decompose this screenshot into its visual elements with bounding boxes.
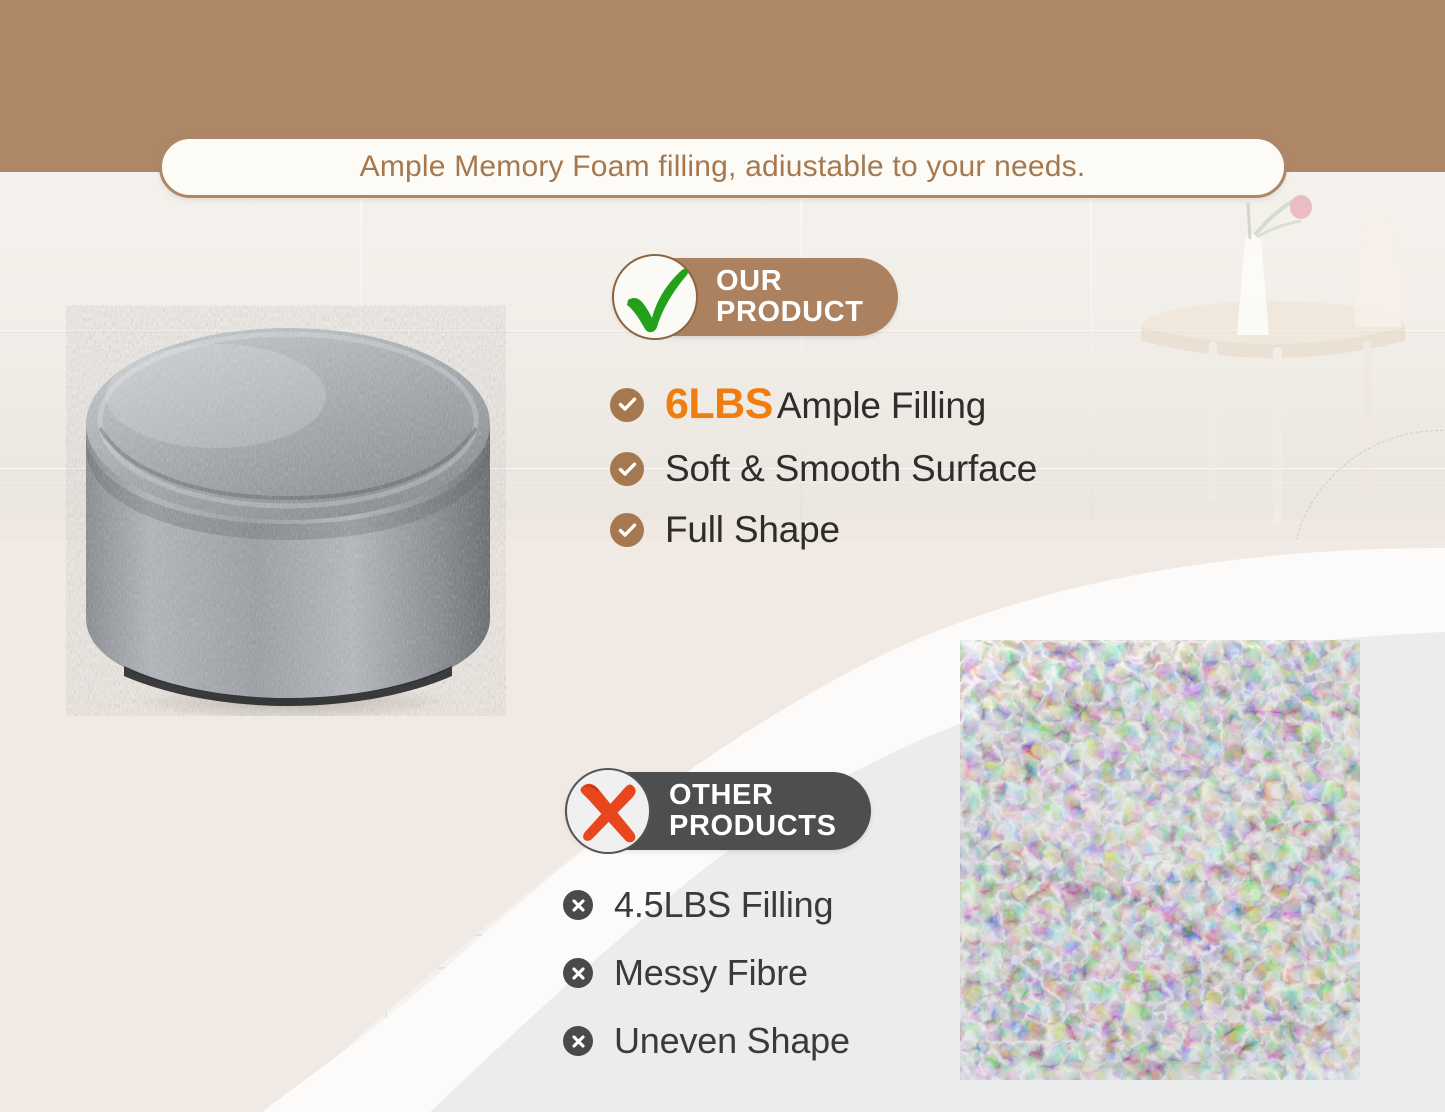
red-cross-icon bbox=[565, 768, 651, 854]
list-item: 4.5LBS Filling bbox=[563, 884, 850, 926]
list-item-label: 6LBSAmple Filling bbox=[665, 380, 986, 429]
list-item-label: Soft & Smooth Surface bbox=[665, 448, 1037, 490]
check-circle-icon bbox=[610, 513, 644, 547]
list-item: Messy Fibre bbox=[563, 952, 850, 994]
list-item: Soft & Smooth Surface bbox=[610, 448, 1037, 490]
other-products-badge-line1: OTHER bbox=[669, 780, 837, 811]
list-item-label: Uneven Shape bbox=[614, 1020, 850, 1062]
cross-circle-icon bbox=[563, 1026, 593, 1056]
list-item-text: Ample Filling bbox=[777, 385, 986, 426]
our-product-badge: OUR PRODUCT bbox=[612, 258, 898, 336]
list-item-label: Full Shape bbox=[665, 509, 840, 551]
other-product-photo bbox=[960, 640, 1360, 1080]
list-item: Full Shape bbox=[610, 509, 1037, 551]
list-item: 6LBSAmple Filling bbox=[610, 380, 1037, 429]
list-item: Uneven Shape bbox=[563, 1020, 850, 1062]
our-product-photo bbox=[66, 236, 506, 716]
our-product-badge-line2: PRODUCT bbox=[716, 297, 864, 328]
list-item-label: Messy Fibre bbox=[614, 952, 808, 994]
cross-circle-icon bbox=[563, 890, 593, 920]
comparison-infographic: OUR PRODUCT 6LBSAmple Filling bbox=[0, 0, 1445, 1112]
other-products-badge-line2: PRODUCTS bbox=[669, 811, 837, 842]
cross-circle-icon bbox=[563, 958, 593, 988]
other-products-badge: OTHER PRODUCTS bbox=[565, 772, 871, 850]
check-circle-icon bbox=[610, 452, 644, 486]
subtitle-pill: Ample Memory Foam filling, adiustable to… bbox=[159, 136, 1287, 198]
filling-weight-highlight: 6LBS bbox=[665, 380, 773, 428]
green-check-icon bbox=[612, 254, 698, 340]
our-product-feature-list: 6LBSAmple Filling Soft & Smooth Surface … bbox=[610, 380, 1037, 570]
other-products-feature-list: 4.5LBS Filling Messy Fibre Uneven Shape bbox=[563, 884, 850, 1088]
check-circle-icon bbox=[610, 388, 644, 422]
list-item-label: 4.5LBS Filling bbox=[614, 884, 833, 926]
subtitle-text: Ample Memory Foam filling, adiustable to… bbox=[360, 150, 1086, 184]
our-product-badge-line1: OUR bbox=[716, 266, 864, 297]
